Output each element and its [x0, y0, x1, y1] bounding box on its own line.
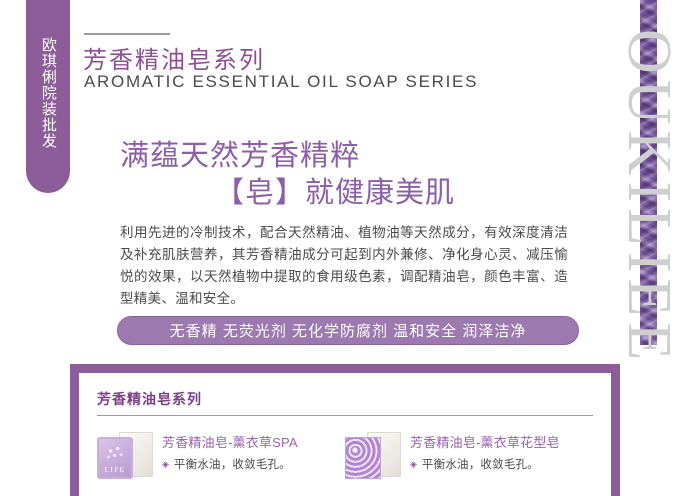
hero-body-copy: 利用先进的冷制技术，配合天然精油、植物油等天然成分，有效深度清洁及补充肌肤营养，…: [120, 222, 568, 310]
promo-page: 欧琪俐院装批发 OUKILIEE 芳香精油皂系列 AROMATIC ESSENT…: [0, 0, 700, 496]
product-text-block: 芳香精油皂-薰衣草SPA ◈ 平衡水油，收敛毛孔。: [162, 431, 298, 472]
headline-line-1: 满蕴天然芳香精粹: [120, 138, 550, 175]
product-description: 平衡水油，收敛毛孔。: [174, 456, 291, 472]
diamond-bullet-icon: ◈: [410, 460, 417, 469]
brand-tab-label: 欧琪俐院装批发: [39, 37, 57, 149]
hero-headline: 满蕴天然芳香精粹 【皂】就健康美肌: [120, 138, 550, 212]
soap-bar-lavender-flower: [345, 437, 381, 479]
product-card: 芳香精油皂系列 LIFE 芳香精油皂-薰衣草SPA ◈ 平衡水油，收敛毛: [79, 373, 611, 496]
product-text-block: 芳香精油皂-薰衣草花型皂 ◈ 平衡水油，收敛毛孔。: [410, 431, 560, 472]
diamond-bullet-icon: ◈: [162, 460, 169, 469]
benefits-pill: 无香精 无荧光剂 无化学防腐剂 温和安全 润泽洁净: [117, 316, 579, 345]
product-description: 平衡水油，收敛毛孔。: [422, 456, 539, 472]
series-title-english: AROMATIC ESSENTIAL OIL SOAP SERIES: [84, 72, 478, 92]
product-card-heading: 芳香精油皂系列: [97, 389, 593, 409]
list-item[interactable]: 芳香精油皂-薰衣草花型皂 ◈ 平衡水油，收敛毛孔。: [345, 431, 593, 481]
list-item[interactable]: LIFE 芳香精油皂-薰衣草SPA ◈ 平衡水油，收敛毛孔。: [97, 431, 345, 481]
soap-embossed-label: LIFE: [99, 466, 131, 474]
product-description-row: ◈ 平衡水油，收敛毛孔。: [162, 456, 298, 472]
benefits-text: 无香精 无荧光剂 无化学防腐剂 温和安全 润泽洁净: [170, 320, 527, 341]
header-divider-rule: [84, 33, 170, 35]
lavender-photo-strip: [640, 0, 657, 345]
brand-vertical-tab: 欧琪俐院装批发: [26, 0, 70, 193]
product-name: 芳香精油皂-薰衣草花型皂: [410, 432, 560, 451]
headline-line-2: 【皂】就健康美肌: [120, 175, 550, 212]
product-list: LIFE 芳香精油皂-薰衣草SPA ◈ 平衡水油，收敛毛孔。: [97, 431, 593, 481]
product-thumbnail: LIFE: [97, 431, 153, 481]
product-description-row: ◈ 平衡水油，收敛毛孔。: [410, 456, 560, 472]
soap-bar-lavender-spa: LIFE: [97, 437, 133, 479]
product-name: 芳香精油皂-薰衣草SPA: [162, 432, 298, 451]
series-title-chinese: 芳香精油皂系列: [83, 40, 265, 75]
product-card-frame: 芳香精油皂系列 LIFE 芳香精油皂-薰衣草SPA ◈ 平衡水油，收敛毛: [70, 364, 620, 496]
product-card-heading-rule: [97, 415, 593, 416]
product-thumbnail: [345, 431, 401, 481]
